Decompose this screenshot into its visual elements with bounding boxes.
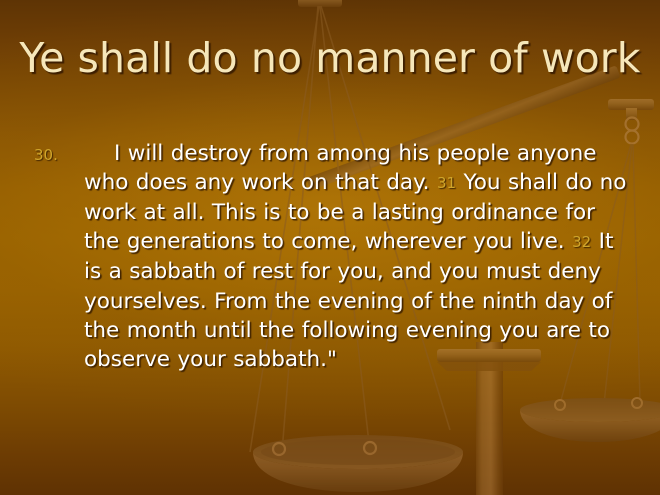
verse-number-32: 32 [572, 233, 591, 251]
list-item-marker: 30. [34, 146, 78, 164]
scripture-paragraph: I will destroy from among his people any… [84, 139, 630, 375]
verse-number-31: 31 [437, 174, 456, 192]
slide-title: Ye shall do no manner of work [0, 34, 660, 82]
slide-body: 30. I will destroy from among his people… [30, 117, 630, 396]
presentation-slide: Ye shall do no manner of work 30. I will… [0, 0, 660, 495]
list-item: 30. I will destroy from among his people… [30, 139, 630, 375]
